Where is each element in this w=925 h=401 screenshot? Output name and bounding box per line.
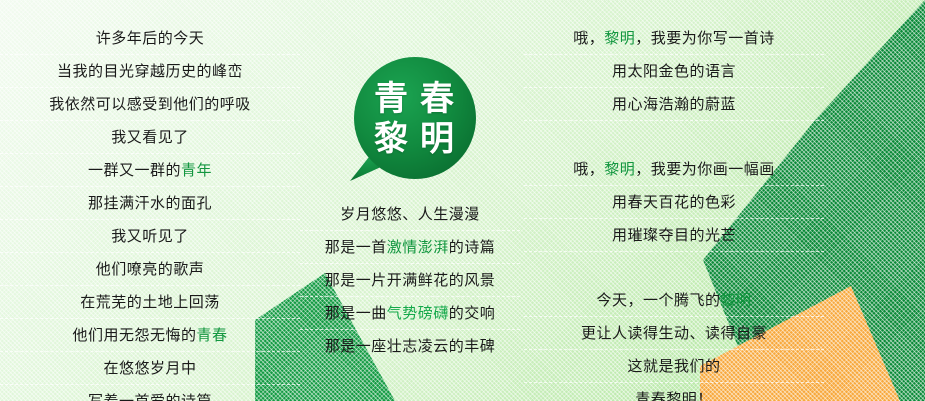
poem-line: 青春黎明！: [524, 383, 824, 401]
poem-line: 那是一曲气势磅礴的交响: [300, 297, 520, 330]
poem-line: 他们用无怨无悔的青春: [0, 319, 300, 352]
poem-text-highlight: 黎明: [604, 160, 635, 178]
poem-text: 哦，: [573, 29, 604, 47]
poem-text-highlight: 青年: [181, 161, 212, 179]
center-poem-column: 岁月悠悠、人生漫漫那是一首激情澎湃的诗篇那是一片开满鲜花的风景那是一曲气势磅礴的…: [300, 198, 520, 362]
poem-line: 那是一首激情澎湃的诗篇: [300, 231, 520, 264]
speech-bubble-logo-shape: [344, 57, 486, 181]
poem-line: 许多年后的今天: [0, 22, 300, 55]
poem-text-highlight: 青春: [197, 326, 228, 344]
poster-canvas: 青 春 黎 明 许多年后的今天当我的目光穿越历史的峰峦我依然可以感受到他们的呼吸…: [0, 0, 925, 401]
poem-line: 哦，黎明，我要为你写一首诗: [524, 22, 824, 55]
poem-text-highlight: 激情澎湃: [387, 238, 449, 256]
poem-line: [524, 252, 824, 284]
poem-text: 今天，一个腾飞的: [596, 291, 720, 309]
poem-text: 那是一座壮志凌云的丰碑: [325, 337, 496, 355]
poem-line: 今天，一个腾飞的黎明: [524, 284, 824, 317]
poem-line: 我依然可以感受到他们的呼吸: [0, 88, 300, 121]
poem-text: 的诗篇: [449, 238, 496, 256]
poem-text: 用璀璨夺目的光芒: [612, 226, 736, 244]
poem-text: ，我要为你画一幅画: [635, 160, 775, 178]
poem-text: 青春黎明！: [635, 390, 713, 401]
poem-text: 他们嘹亮的歌声: [96, 260, 205, 278]
bubble-circle: [354, 57, 476, 179]
poem-text: 用心海浩瀚的蔚蓝: [612, 95, 736, 113]
poem-line: 写着一首爱的诗篇: [0, 385, 300, 401]
poem-line: 当我的目光穿越历史的峰峦: [0, 55, 300, 88]
poem-text: 哦，: [573, 160, 604, 178]
poem-text: 在悠悠岁月中: [103, 359, 196, 377]
poem-text: 许多年后的今天: [96, 29, 205, 47]
poem-line: 那是一片开满鲜花的风景: [300, 264, 520, 297]
poem-text: 用春天百花的色彩: [612, 193, 736, 211]
poem-text: 一群又一群的: [88, 161, 181, 179]
poem-text: 那是一曲: [325, 304, 387, 322]
poem-line: 岁月悠悠、人生漫漫: [300, 198, 520, 231]
poem-text: 我依然可以感受到他们的呼吸: [49, 95, 251, 113]
poem-text: ，我要为你写一首诗: [635, 29, 775, 47]
poem-text: 我又看见了: [111, 128, 189, 146]
poem-text: 他们用无怨无悔的: [72, 326, 196, 344]
poem-text-highlight: 黎明: [721, 291, 752, 309]
poem-line: 哦，黎明，我要为你画一幅画: [524, 153, 824, 186]
poem-line: 我又看见了: [0, 121, 300, 154]
poem-line: 用春天百花的色彩: [524, 186, 824, 219]
right-poem-column: 哦，黎明，我要为你写一首诗用太阳金色的语言用心海浩瀚的蔚蓝哦，黎明，我要为你画一…: [524, 22, 824, 401]
poem-text: 那挂满汗水的面孔: [88, 194, 212, 212]
poem-text: 那是一片开满鲜花的风景: [325, 271, 496, 289]
poem-line: 用太阳金色的语言: [524, 55, 824, 88]
poem-line: 用璀璨夺目的光芒: [524, 219, 824, 252]
left-poem-column: 许多年后的今天当我的目光穿越历史的峰峦我依然可以感受到他们的呼吸我又看见了一群又…: [0, 22, 300, 401]
poem-text: 这就是我们的: [627, 357, 720, 375]
poem-text: 在荒芜的土地上回荡: [80, 293, 220, 311]
poem-line: 这就是我们的: [524, 350, 824, 383]
poem-line: 一群又一群的青年: [0, 154, 300, 187]
poem-line: 用心海浩瀚的蔚蓝: [524, 88, 824, 121]
poem-text: 那是一首: [325, 238, 387, 256]
poem-text: 我又听见了: [111, 227, 189, 245]
poem-text-highlight: 黎明: [604, 29, 635, 47]
poem-line: 那挂满汗水的面孔: [0, 187, 300, 220]
poem-line: 在荒芜的土地上回荡: [0, 286, 300, 319]
poem-line: 那是一座壮志凌云的丰碑: [300, 330, 520, 362]
poem-line: 我又听见了: [0, 220, 300, 253]
poem-text: 当我的目光穿越历史的峰峦: [57, 62, 243, 80]
poem-text: 用太阳金色的语言: [612, 62, 736, 80]
poem-line: 在悠悠岁月中: [0, 352, 300, 385]
poem-line: [524, 121, 824, 153]
poem-line: 更让人读得生动、读得自豪: [524, 317, 824, 350]
poem-line: 他们嘹亮的歌声: [0, 253, 300, 286]
poem-text: 更让人读得生动、读得自豪: [581, 324, 767, 342]
poem-text: 岁月悠悠、人生漫漫: [340, 205, 480, 223]
poem-text: 的交响: [449, 304, 496, 322]
poem-text: 写着一首爱的诗篇: [88, 392, 212, 401]
poem-text-highlight: 气势磅礴: [387, 304, 449, 322]
